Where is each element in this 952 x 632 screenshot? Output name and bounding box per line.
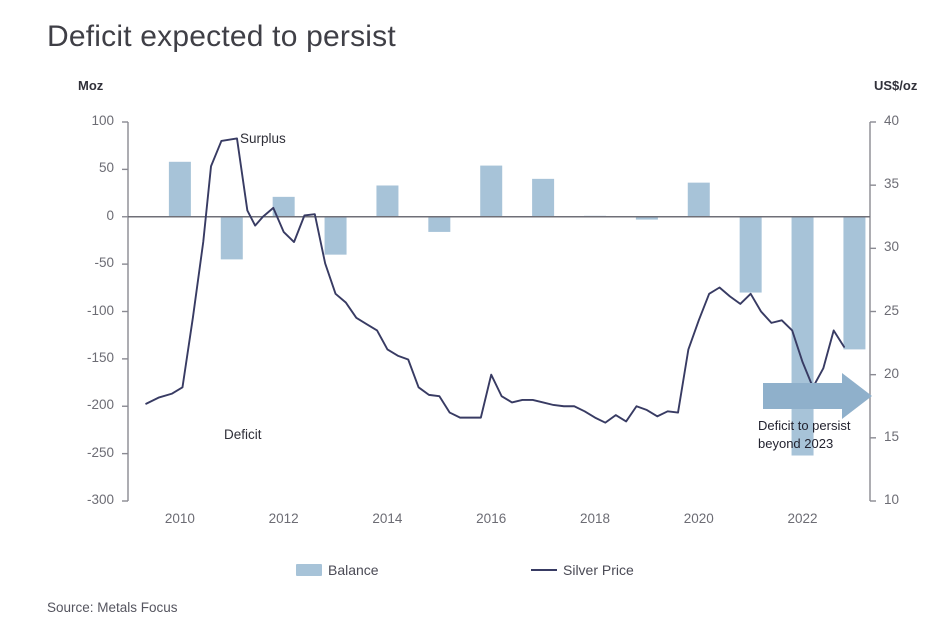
left-axis-tick-label: -200 xyxy=(50,397,114,412)
left-axis-tick-label: -300 xyxy=(50,492,114,507)
x-axis-tick-label: 2014 xyxy=(357,511,417,526)
chart-canvas: Deficit expected to persist Moz US$/oz 1… xyxy=(0,0,952,632)
right-axis-tick-label: 30 xyxy=(884,239,899,254)
bar-balance-2010[interactable] xyxy=(169,162,191,217)
right-axis-tick-label: 35 xyxy=(884,176,899,191)
arrow-caption-line-1: Deficit to persist xyxy=(758,417,850,435)
x-axis-tick-label: 2012 xyxy=(254,511,314,526)
x-axis-tick-label: 2018 xyxy=(565,511,625,526)
source-note: Source: Metals Focus xyxy=(47,600,178,615)
left-axis-tick-label: -150 xyxy=(50,350,114,365)
left-axis-tick-label: -100 xyxy=(50,303,114,318)
bar-balance-2016[interactable] xyxy=(480,166,502,217)
arrow-caption: Deficit to persist beyond 2023 xyxy=(758,417,850,453)
annotation-deficit: Deficit xyxy=(224,427,262,442)
x-axis-tick-label: 2010 xyxy=(150,511,210,526)
left-axis-tick-label: 50 xyxy=(50,160,114,175)
legend-swatch-balance xyxy=(296,564,322,576)
bar-balance-2023[interactable] xyxy=(843,217,865,350)
left-axis-tick-label: 0 xyxy=(50,208,114,223)
right-axis-tick-label: 40 xyxy=(884,113,899,128)
left-axis-tick-label: -250 xyxy=(50,445,114,460)
x-axis-tick-label: 2020 xyxy=(669,511,729,526)
legend-line-silver-price xyxy=(531,569,557,571)
bar-balance-2017[interactable] xyxy=(532,179,554,217)
bar-balance-2013[interactable] xyxy=(325,217,347,255)
bar-balance-2011[interactable] xyxy=(221,217,243,260)
bar-balance-2020[interactable] xyxy=(688,183,710,217)
right-axis-tick-label: 10 xyxy=(884,492,899,507)
bar-balance-2021[interactable] xyxy=(740,217,762,293)
bar-balance-2014[interactable] xyxy=(376,185,398,216)
legend-label-silver-price[interactable]: Silver Price xyxy=(563,562,634,578)
x-axis-tick-label: 2016 xyxy=(461,511,521,526)
chart-plot-area xyxy=(0,0,952,632)
right-axis-tick-label: 25 xyxy=(884,303,899,318)
legend-label-balance[interactable]: Balance xyxy=(328,562,379,578)
x-axis-tick-label: 2022 xyxy=(773,511,833,526)
left-axis-tick-label: -50 xyxy=(50,255,114,270)
bar-balance-2015[interactable] xyxy=(428,217,450,232)
annotation-surplus: Surplus xyxy=(240,131,286,146)
arrow-caption-line-2: beyond 2023 xyxy=(758,435,850,453)
left-axis-tick-label: 100 xyxy=(50,113,114,128)
right-axis-tick-label: 15 xyxy=(884,429,899,444)
right-axis-tick-label: 20 xyxy=(884,366,899,381)
